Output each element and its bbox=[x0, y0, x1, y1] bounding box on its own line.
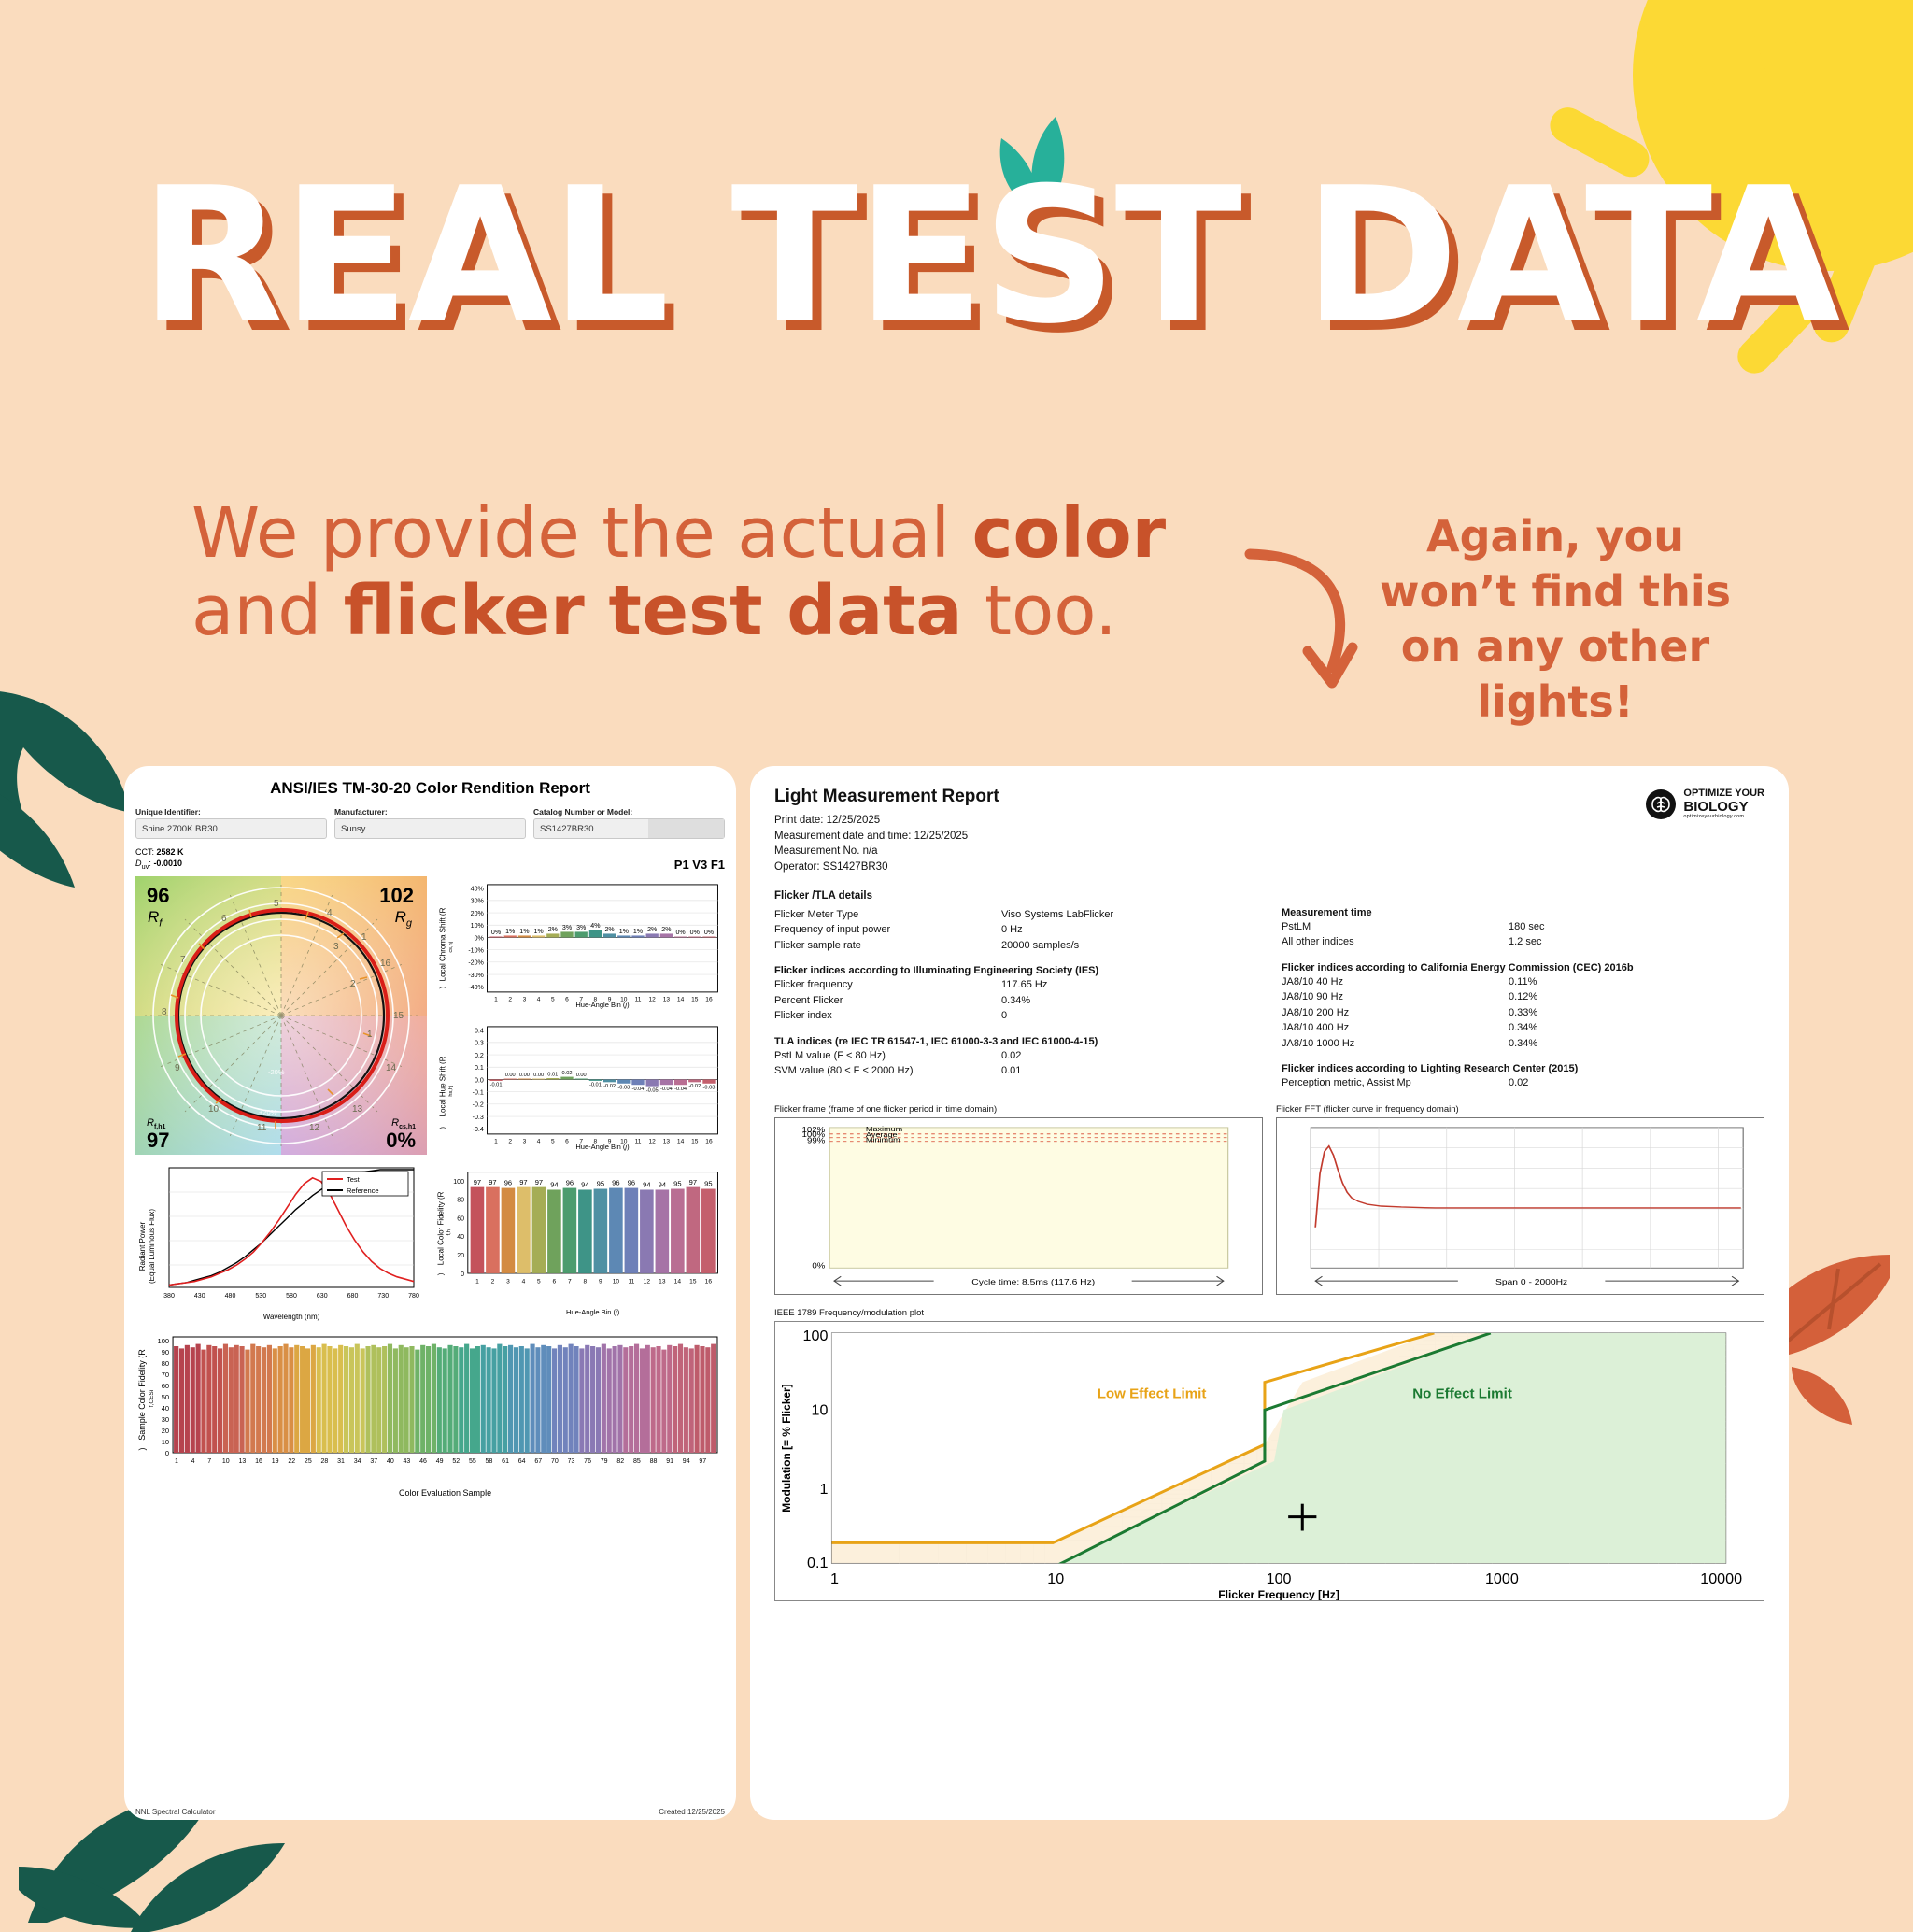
svg-text:15: 15 bbox=[691, 996, 699, 1002]
svg-text:5: 5 bbox=[274, 899, 279, 909]
svg-text:90: 90 bbox=[162, 1348, 169, 1357]
svg-text:73: 73 bbox=[568, 1458, 575, 1465]
kv-value: Viso Systems LabFlicker bbox=[1001, 907, 1257, 923]
svg-text:-0.04: -0.04 bbox=[660, 1087, 673, 1092]
svg-text:Wavelength (nm): Wavelength (nm) bbox=[263, 1313, 320, 1321]
fft-span-label: Span 0 - 2000Hz bbox=[1495, 1277, 1568, 1286]
svg-text:-30%: -30% bbox=[468, 973, 484, 979]
svg-text:0.1: 0.1 bbox=[807, 1556, 829, 1571]
svg-text:16: 16 bbox=[705, 996, 713, 1002]
lmr-measurement-datetime: Measurement date and time: 12/25/2025 bbox=[774, 829, 1764, 845]
svg-text:Hue-Angle Bin (j): Hue-Angle Bin (j) bbox=[575, 1143, 630, 1151]
svg-text:97: 97 bbox=[535, 1178, 543, 1186]
svg-text:96: 96 bbox=[566, 1179, 574, 1187]
svg-text:96: 96 bbox=[628, 1179, 635, 1187]
subhead-line1-bold: color bbox=[972, 493, 1166, 574]
kv-value: 0 bbox=[1001, 1008, 1257, 1024]
sidenote-text: Again, you won’t find this on any other … bbox=[1359, 509, 1751, 730]
svg-text:97: 97 bbox=[699, 1458, 706, 1465]
svg-text:13: 13 bbox=[659, 1278, 666, 1285]
subhead-line2-bold: flicker test data bbox=[344, 571, 963, 651]
svg-text:): ) bbox=[438, 987, 446, 989]
svg-text:52: 52 bbox=[452, 1458, 460, 1465]
kv-value: 0.34% bbox=[1509, 1036, 1764, 1052]
svg-text:10: 10 bbox=[1047, 1571, 1064, 1587]
svg-text:1: 1 bbox=[830, 1571, 839, 1587]
lmr-print-date: Print date: 12/25/2025 bbox=[774, 813, 1764, 829]
svg-text:730: 730 bbox=[377, 1293, 389, 1300]
svg-text:-0.1: -0.1 bbox=[473, 1090, 484, 1097]
svg-text:0.00: 0.00 bbox=[505, 1073, 516, 1078]
svg-text:40: 40 bbox=[387, 1458, 394, 1465]
row-perception-metric: Perception metric, Assist Mp0.02 bbox=[1282, 1075, 1764, 1091]
svg-text:9: 9 bbox=[175, 1063, 180, 1073]
svg-text:70: 70 bbox=[551, 1458, 559, 1465]
svg-text:40%: 40% bbox=[471, 887, 485, 893]
kv-value: 180 sec bbox=[1509, 919, 1764, 935]
svg-text:3%: 3% bbox=[562, 925, 573, 931]
logo-line1: OPTIMIZE YOUR bbox=[1683, 788, 1764, 799]
row-other-indices-time: All other indices1.2 sec bbox=[1282, 934, 1764, 950]
svg-text:11: 11 bbox=[628, 1278, 634, 1285]
svg-text:16: 16 bbox=[705, 1138, 713, 1144]
svg-text:Sample Color Fidelity (R: Sample Color Fidelity (R bbox=[137, 1349, 147, 1441]
svg-text:430: 430 bbox=[194, 1293, 205, 1300]
svg-text:95: 95 bbox=[673, 1180, 681, 1188]
svg-text:): ) bbox=[137, 1448, 147, 1451]
svg-text:15: 15 bbox=[393, 1011, 404, 1021]
svg-text:85: 85 bbox=[633, 1458, 641, 1465]
kv-value: 20000 samples/s bbox=[1001, 938, 1257, 954]
kv-key: Percent Flicker bbox=[774, 993, 1001, 1009]
flicker-frame-title: Flicker frame (frame of one flicker peri… bbox=[774, 1104, 1263, 1115]
kv-key: Flicker Meter Type bbox=[774, 907, 1001, 923]
svg-text:1: 1 bbox=[819, 1482, 828, 1498]
kv-value: 0 Hz bbox=[1001, 922, 1257, 938]
kv-key: Flicker sample rate bbox=[774, 938, 1001, 954]
svg-text:+20%: +20% bbox=[259, 1108, 277, 1116]
kv-key: JA8/10 400 Hz bbox=[1282, 1020, 1509, 1036]
svg-text:58: 58 bbox=[486, 1458, 493, 1465]
svg-text:1: 1 bbox=[367, 1030, 373, 1040]
row-pstlm-time: PstLM180 sec bbox=[1282, 919, 1764, 935]
flicker-fft-title: Flicker FFT (flicker curve in frequency … bbox=[1276, 1104, 1764, 1115]
svg-text:5: 5 bbox=[551, 996, 555, 1002]
field-manufacturer: Manufacturer: Sunsy bbox=[334, 807, 526, 839]
field-value: SS1427BR30 bbox=[534, 820, 648, 838]
svg-text:0: 0 bbox=[461, 1271, 464, 1278]
row-ja8-400: JA8/10 400 Hz0.34% bbox=[1282, 1020, 1764, 1036]
svg-text:70: 70 bbox=[162, 1371, 169, 1379]
field-label: Unique Identifier: bbox=[135, 807, 327, 817]
flicker-tla-section-title: Flicker /TLA details bbox=[774, 890, 1764, 902]
svg-text:6: 6 bbox=[553, 1278, 557, 1285]
kv-value: 0.02 bbox=[1001, 1048, 1257, 1064]
svg-text:100: 100 bbox=[158, 1337, 170, 1345]
svg-text:34: 34 bbox=[354, 1458, 361, 1465]
kv-value: 0.11% bbox=[1509, 974, 1764, 990]
field-value[interactable]: Sunsy bbox=[334, 818, 526, 839]
svg-text:-0.2: -0.2 bbox=[473, 1102, 484, 1109]
svg-text:3: 3 bbox=[506, 1278, 510, 1285]
svg-text:3%: 3% bbox=[576, 925, 587, 931]
duv-sub: uv bbox=[142, 862, 149, 871]
svg-text:Local Chroma Shift (R: Local Chroma Shift (R bbox=[438, 907, 446, 981]
subheadline: We provide the actual color and flicker … bbox=[191, 495, 1219, 650]
logo-line2: BIOLOGY bbox=[1683, 799, 1748, 815]
svg-text:Local Hue Shift (R: Local Hue Shift (R bbox=[438, 1056, 446, 1116]
svg-text:1%: 1% bbox=[619, 929, 630, 935]
svg-text:19: 19 bbox=[272, 1458, 279, 1465]
svg-text:15: 15 bbox=[691, 1138, 699, 1144]
field-value-box[interactable]: SS1427BR30 bbox=[533, 818, 725, 839]
svg-text:4: 4 bbox=[191, 1458, 195, 1465]
brain-icon bbox=[1645, 788, 1677, 820]
svg-text:30%: 30% bbox=[471, 899, 485, 905]
svg-text:64: 64 bbox=[518, 1458, 526, 1465]
kv-key: PstLM bbox=[1282, 919, 1509, 935]
svg-text:2%: 2% bbox=[605, 927, 616, 933]
svg-text:0.1: 0.1 bbox=[475, 1065, 484, 1072]
cct-label: CCT: bbox=[135, 847, 154, 857]
kv-value: 0.02 bbox=[1509, 1075, 1764, 1091]
svg-text:cs,hj: cs,hj bbox=[448, 942, 454, 953]
svg-text:2: 2 bbox=[508, 1138, 512, 1144]
svg-text:13: 13 bbox=[663, 996, 671, 1002]
svg-text:0.3: 0.3 bbox=[475, 1041, 484, 1047]
svg-text:80: 80 bbox=[162, 1359, 169, 1368]
svg-text:0.00: 0.00 bbox=[519, 1073, 530, 1078]
svg-text:14: 14 bbox=[674, 1278, 682, 1285]
svg-text:15: 15 bbox=[689, 1278, 697, 1285]
svg-text:99%: 99% bbox=[807, 1136, 826, 1144]
svg-text:12: 12 bbox=[649, 996, 657, 1002]
spd-legend: Test Reference bbox=[322, 1172, 408, 1196]
rcs-h1-value: 0% bbox=[386, 1129, 416, 1153]
svg-text:0.01: 0.01 bbox=[547, 1073, 558, 1078]
svg-text:4: 4 bbox=[522, 1278, 526, 1285]
svg-text:0.00: 0.00 bbox=[576, 1073, 587, 1078]
label-minimum: Minimum bbox=[866, 1135, 900, 1144]
svg-text:-0.01: -0.01 bbox=[589, 1083, 602, 1088]
svg-text:7: 7 bbox=[207, 1458, 211, 1465]
svg-text:7: 7 bbox=[180, 955, 186, 965]
svg-text:hs,hj: hs,hj bbox=[448, 1086, 454, 1097]
kv-key: All other indices bbox=[1282, 934, 1509, 950]
svg-text:97: 97 bbox=[489, 1178, 496, 1186]
svg-text:3: 3 bbox=[523, 996, 527, 1002]
svg-text:0%: 0% bbox=[491, 930, 502, 936]
field-label: Manufacturer: bbox=[334, 807, 526, 817]
svg-text:37: 37 bbox=[370, 1458, 377, 1465]
svg-text:-0.01: -0.01 bbox=[490, 1083, 503, 1088]
svg-text:22: 22 bbox=[288, 1458, 295, 1465]
svg-text:28: 28 bbox=[321, 1458, 329, 1465]
svg-text:16: 16 bbox=[705, 1278, 713, 1285]
svg-text:1: 1 bbox=[475, 1278, 479, 1285]
svg-text:10: 10 bbox=[208, 1104, 220, 1115]
light-measurement-report-card: Light Measurement Report Print date: 12/… bbox=[750, 766, 1789, 1820]
footer-left-text: NNL Spectral Calculator bbox=[135, 1808, 216, 1816]
tm30-report-card: ANSI/IES TM-30-20 Color Rendition Report… bbox=[124, 766, 736, 1820]
lmr-title: Light Measurement Report bbox=[774, 787, 1764, 807]
no-effect-limit-label: No Effect Limit bbox=[1412, 1385, 1512, 1401]
ieee-xlabel: Flicker Frequency [Hz] bbox=[1218, 1588, 1339, 1600]
page-title: REAL TEST DATA bbox=[140, 163, 1821, 350]
svg-text:5: 5 bbox=[537, 1278, 541, 1285]
svg-text:61: 61 bbox=[502, 1458, 509, 1465]
kv-value: 0.33% bbox=[1509, 1005, 1764, 1021]
flicker-left-column: Flicker Meter TypeViso Systems LabFlicke… bbox=[774, 907, 1257, 1091]
svg-text:10000: 10000 bbox=[1700, 1571, 1742, 1587]
svg-text:94: 94 bbox=[643, 1181, 650, 1189]
svg-text:f,CESi: f,CESi bbox=[149, 1390, 155, 1407]
svg-text:9: 9 bbox=[599, 1278, 602, 1285]
svg-text:60: 60 bbox=[162, 1382, 169, 1390]
svg-text:Hue-Angle Bin (j): Hue-Angle Bin (j) bbox=[566, 1308, 620, 1316]
svg-text:2: 2 bbox=[350, 979, 356, 989]
rf-h1-value: 97 bbox=[147, 1129, 169, 1153]
ieee-plot-box: Low Effect Limit No Effect Limit 10010 1… bbox=[774, 1321, 1764, 1601]
svg-text:10: 10 bbox=[162, 1438, 169, 1446]
svg-text:100: 100 bbox=[453, 1179, 464, 1186]
chart-local-chroma-shift: Local Chroma Shift (R cs,hj ) 40%30%20% … bbox=[434, 876, 725, 1013]
kv-key: JA8/10 40 Hz bbox=[1282, 974, 1509, 990]
svg-text:): ) bbox=[438, 1127, 446, 1129]
svg-text:0.0: 0.0 bbox=[475, 1077, 484, 1084]
svg-text:94: 94 bbox=[659, 1181, 666, 1189]
svg-text:25: 25 bbox=[305, 1458, 312, 1465]
row-ja8-40: JA8/10 40 Hz0.11% bbox=[1282, 974, 1764, 990]
svg-text:12: 12 bbox=[649, 1138, 657, 1144]
svg-text:580: 580 bbox=[286, 1293, 297, 1300]
svg-text:102%: 102% bbox=[802, 1125, 826, 1133]
lmr-metadata: Print date: 12/25/2025 Measurement date … bbox=[774, 813, 1764, 875]
row-flicker-meter-type: Flicker Meter TypeViso Systems LabFlicke… bbox=[774, 907, 1257, 923]
cct-row: CCT: 2582 K Duv: -0.0010 P1 V3 F1 bbox=[135, 846, 725, 872]
svg-text:f,hj: f,hj bbox=[446, 1229, 452, 1236]
svg-text:-0.3: -0.3 bbox=[473, 1115, 484, 1121]
svg-text:46: 46 bbox=[419, 1458, 427, 1465]
svg-text:97: 97 bbox=[474, 1178, 481, 1186]
svg-text:10%: 10% bbox=[471, 923, 485, 930]
row-flicker-frequency: Flicker frequency117.65 Hz bbox=[774, 977, 1257, 993]
svg-text:96: 96 bbox=[612, 1179, 619, 1187]
svg-text:480: 480 bbox=[225, 1293, 236, 1300]
svg-text:1%: 1% bbox=[505, 929, 516, 935]
svg-text:100: 100 bbox=[803, 1328, 829, 1344]
svg-text:2: 2 bbox=[491, 1278, 495, 1285]
curved-arrow-icon bbox=[1242, 547, 1364, 705]
svg-text:94: 94 bbox=[550, 1181, 558, 1189]
cec-group-head: Flicker indices according to California … bbox=[1282, 962, 1764, 973]
svg-text:94: 94 bbox=[581, 1181, 588, 1189]
svg-text:630: 630 bbox=[317, 1293, 328, 1300]
svg-text:82: 82 bbox=[616, 1458, 624, 1465]
lrc-group-head: Flicker indices according to Lighting Re… bbox=[1282, 1063, 1764, 1074]
kv-value: 117.65 Hz bbox=[1001, 977, 1257, 993]
svg-text:-0.03: -0.03 bbox=[617, 1085, 630, 1090]
svg-text:43: 43 bbox=[404, 1458, 411, 1465]
rf-symbol: Rf bbox=[148, 908, 162, 929]
svg-text:12: 12 bbox=[309, 1123, 320, 1133]
subhead-line1-plain: We provide the actual bbox=[191, 493, 972, 574]
field-catalog-number: Catalog Number or Model: SS1427BR30 bbox=[533, 807, 725, 839]
svg-text:4%: 4% bbox=[590, 923, 601, 930]
svg-text:88: 88 bbox=[650, 1458, 658, 1465]
svg-text:80: 80 bbox=[457, 1198, 464, 1204]
svg-text:-0.02: -0.02 bbox=[688, 1084, 701, 1089]
rg-value: 102 bbox=[379, 884, 414, 908]
svg-text:780: 780 bbox=[408, 1293, 419, 1300]
svg-text:97: 97 bbox=[519, 1178, 527, 1186]
svg-text:1: 1 bbox=[175, 1458, 178, 1465]
svg-text:1%: 1% bbox=[633, 929, 644, 935]
svg-text:1: 1 bbox=[494, 1138, 498, 1144]
svg-text:-0.4: -0.4 bbox=[473, 1127, 484, 1133]
svg-text:6: 6 bbox=[565, 996, 569, 1002]
kv-key: Flicker index bbox=[774, 1008, 1001, 1024]
svg-text:16: 16 bbox=[380, 959, 391, 969]
svg-text:20: 20 bbox=[457, 1253, 464, 1259]
svg-text:49: 49 bbox=[436, 1458, 444, 1465]
lmr-operator: Operator: SS1427BR30 bbox=[774, 859, 1764, 875]
svg-text:-0.04: -0.04 bbox=[674, 1087, 687, 1092]
svg-text:11: 11 bbox=[257, 1123, 267, 1133]
svg-text:0.2: 0.2 bbox=[475, 1053, 484, 1059]
row-svm-value: SVM value (80 < F < 2000 Hz)0.01 bbox=[774, 1063, 1257, 1079]
svg-text:2: 2 bbox=[508, 996, 512, 1002]
svg-text:14: 14 bbox=[677, 1138, 685, 1144]
svg-text:0.00: 0.00 bbox=[533, 1073, 544, 1078]
svg-text:91: 91 bbox=[666, 1458, 673, 1465]
low-effect-limit-label: Low Effect Limit bbox=[1098, 1385, 1207, 1401]
svg-text:8: 8 bbox=[162, 1007, 167, 1017]
svg-text:11: 11 bbox=[635, 1138, 642, 1144]
svg-text:530: 530 bbox=[255, 1293, 266, 1300]
svg-text:): ) bbox=[436, 1272, 445, 1275]
svg-text:95: 95 bbox=[704, 1180, 712, 1188]
row-ja8-200: JA8/10 200 Hz0.33% bbox=[1282, 1005, 1764, 1021]
svg-text:-0.05: -0.05 bbox=[646, 1087, 659, 1093]
svg-text:1%: 1% bbox=[519, 929, 530, 935]
svg-text:0%: 0% bbox=[704, 930, 715, 936]
svg-text:2%: 2% bbox=[548, 927, 559, 933]
svg-text:0.02: 0.02 bbox=[562, 1071, 573, 1076]
ieee-plot-title: IEEE 1789 Frequency/modulation plot bbox=[774, 1308, 1764, 1318]
kv-key: Flicker frequency bbox=[774, 977, 1001, 993]
identification-row: Unique Identifier: Shine 2700K BR30 Manu… bbox=[135, 807, 725, 839]
field-value[interactable]: Shine 2700K BR30 bbox=[135, 818, 327, 839]
tm30-version-label: P1 V3 F1 bbox=[674, 858, 725, 872]
rf-value: 96 bbox=[147, 884, 169, 908]
svg-text:-20%: -20% bbox=[468, 960, 484, 967]
chart-spectral-power-distribution: Radiant Power (Equal Luminous Flux) 3804… bbox=[135, 1160, 427, 1324]
kv-key: Frequency of input power bbox=[774, 922, 1001, 938]
svg-text:20: 20 bbox=[162, 1427, 169, 1435]
row-flicker-sample-rate: Flicker sample rate20000 samples/s bbox=[774, 938, 1257, 954]
svg-text:Local Color Fidelity (R: Local Color Fidelity (R bbox=[436, 1191, 445, 1265]
svg-text:0%: 0% bbox=[675, 930, 686, 936]
svg-text:-0.03: -0.03 bbox=[703, 1085, 716, 1090]
svg-text:7: 7 bbox=[568, 1278, 572, 1285]
svg-text:0%: 0% bbox=[475, 935, 485, 942]
svg-text:14: 14 bbox=[677, 996, 685, 1002]
measurement-time-head: Measurement time bbox=[1282, 907, 1764, 918]
svg-text:8: 8 bbox=[584, 1278, 588, 1285]
kv-key: PstLM value (F < 80 Hz) bbox=[774, 1048, 1001, 1064]
kv-key: Perception metric, Assist Mp bbox=[1282, 1075, 1509, 1091]
kv-key: JA8/10 200 Hz bbox=[1282, 1005, 1509, 1021]
svg-text:12: 12 bbox=[644, 1278, 651, 1285]
kv-key: JA8/10 90 Hz bbox=[1282, 989, 1509, 1005]
svg-text:4: 4 bbox=[537, 1138, 541, 1144]
svg-text:20%: 20% bbox=[471, 911, 485, 917]
svg-text:2%: 2% bbox=[661, 927, 672, 933]
subhead-line2-plain-b: too. bbox=[962, 571, 1116, 651]
svg-text:4: 4 bbox=[537, 996, 541, 1002]
kv-value: 0.34% bbox=[1509, 1020, 1764, 1036]
kv-value: 0.12% bbox=[1509, 989, 1764, 1005]
rg-symbol: Rg bbox=[395, 908, 412, 929]
svg-text:1: 1 bbox=[494, 996, 498, 1002]
svg-text:Color Evaluation Sample: Color Evaluation Sample bbox=[399, 1488, 491, 1498]
chart-ieee-1789: IEEE 1789 Frequency/modulation plot bbox=[774, 1308, 1764, 1601]
svg-text:100: 100 bbox=[1267, 1571, 1292, 1587]
svg-text:(Equal Luminous Flux): (Equal Luminous Flux) bbox=[148, 1209, 156, 1284]
ieee-ylabel: Modulation [= % Flicker] bbox=[780, 1384, 793, 1512]
svg-text:0: 0 bbox=[165, 1449, 169, 1457]
tla-group-head: TLA indices (re IEC TR 61547-1, IEC 6100… bbox=[774, 1036, 1257, 1047]
svg-text:10: 10 bbox=[613, 1278, 620, 1285]
field-label: Catalog Number or Model: bbox=[533, 807, 725, 817]
svg-text:1000: 1000 bbox=[1485, 1571, 1519, 1587]
svg-text:11: 11 bbox=[635, 996, 642, 1002]
lmr-measurement-no: Measurement No. n/a bbox=[774, 844, 1764, 859]
flicker-right-column: Measurement time PstLM180 sec All other … bbox=[1282, 907, 1764, 1091]
svg-text:0%: 0% bbox=[690, 930, 701, 936]
kv-value: 0.01 bbox=[1001, 1063, 1257, 1079]
field-unique-identifier: Unique Identifier: Shine 2700K BR30 bbox=[135, 807, 327, 839]
svg-text:40: 40 bbox=[162, 1404, 169, 1413]
svg-text:67: 67 bbox=[534, 1458, 542, 1465]
svg-text:-0.02: -0.02 bbox=[603, 1084, 616, 1089]
field-value-filler bbox=[648, 819, 724, 838]
color-vector-graphic: -20% +20% 4 5 6 7 8 9 10 11 12 13 14 bbox=[135, 876, 427, 1155]
row-percent-flicker: Percent Flicker0.34% bbox=[774, 993, 1257, 1009]
svg-text:2%: 2% bbox=[647, 927, 658, 933]
chart-local-hue-shift: Local Hue Shift (R hs,hj ) 0.40.30.2 0.1… bbox=[434, 1018, 725, 1155]
svg-text:6: 6 bbox=[565, 1138, 569, 1144]
svg-text:6: 6 bbox=[221, 914, 227, 924]
svg-text:Test: Test bbox=[347, 1175, 361, 1184]
kv-value: 1.2 sec bbox=[1509, 934, 1764, 950]
chart-sample-color-fidelity: Sample Color Fidelity (R f,CESi ) 100908… bbox=[135, 1329, 725, 1502]
svg-text:16: 16 bbox=[255, 1458, 262, 1465]
svg-text:13: 13 bbox=[239, 1458, 247, 1465]
svg-text:79: 79 bbox=[601, 1458, 608, 1465]
svg-text:0.4: 0.4 bbox=[475, 1029, 484, 1035]
logo-sub: optimizeyourbiology.com bbox=[1683, 815, 1764, 820]
svg-text:4: 4 bbox=[327, 908, 333, 918]
row-flicker-index: Flicker index0 bbox=[774, 1008, 1257, 1024]
svg-text:50: 50 bbox=[162, 1393, 169, 1401]
ies-group-head: Flicker indices according to Illuminatin… bbox=[774, 965, 1257, 976]
cct-block: CCT: 2582 K Duv: -0.0010 bbox=[135, 846, 184, 872]
svg-text:76: 76 bbox=[584, 1458, 591, 1465]
svg-text:14: 14 bbox=[386, 1063, 397, 1073]
kv-key: JA8/10 1000 Hz bbox=[1282, 1036, 1509, 1052]
